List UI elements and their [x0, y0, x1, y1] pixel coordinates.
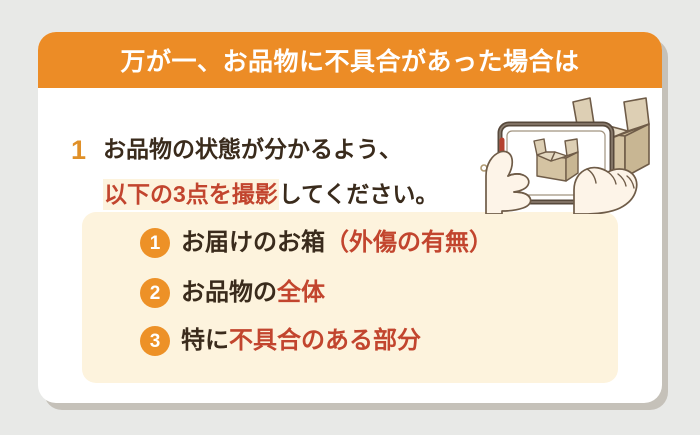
notice-card: 万が一、お品物に不具合があった場合は 1 お品物の状態が分かるよう、 以下の3点…	[38, 32, 662, 403]
step-instruction-block: 1 お品物の状態が分かるよう、 以下の3点を撮影してください。	[38, 88, 662, 188]
step-instruction-line-2-rest: してください。	[279, 181, 439, 207]
card-header: 万が一、お品物に不具合があった場合は	[38, 32, 662, 88]
list-item: 3 特に不具合のある部分	[140, 324, 421, 358]
list-item-text-1: お届けのお箱（外傷の有無）	[181, 231, 493, 255]
list-item-badge-3: 3	[140, 326, 170, 356]
list-item-text-2: お品物の全体	[181, 281, 325, 305]
photo-subject-list-panel: 1 お届けのお箱（外傷の有無） 2 お品物の全体 3 特に不具合のある部分	[82, 212, 618, 383]
list-item: 2 お品物の全体	[140, 276, 325, 310]
list-item-text-plain-3: 特に	[181, 327, 229, 354]
step-number: 1	[71, 137, 86, 164]
list-item-text-accent-1: （外傷の有無）	[325, 229, 493, 256]
list-item-text-3: 特に不具合のある部分	[181, 329, 421, 353]
list-item-text-plain-2: お品物の	[181, 279, 277, 306]
list-item-badge-2: 2	[140, 278, 170, 308]
step-instruction-line-2: 以下の3点を撮影してください。	[103, 183, 438, 206]
step-instruction-line-1: お品物の状態が分かるよう、	[103, 138, 402, 161]
list-item-text-accent-3: 不具合のある部分	[229, 327, 421, 354]
header-title: 万が一、お品物に不具合があった場合は	[120, 42, 579, 78]
list-item-text-plain-1: お届けのお箱	[181, 229, 325, 256]
list-item: 1 お届けのお箱（外傷の有無）	[140, 226, 493, 260]
list-item-text-accent-2: 全体	[277, 279, 325, 306]
step-highlight-text: 以下の3点を撮影	[103, 179, 279, 210]
list-item-badge-1: 1	[140, 228, 170, 258]
